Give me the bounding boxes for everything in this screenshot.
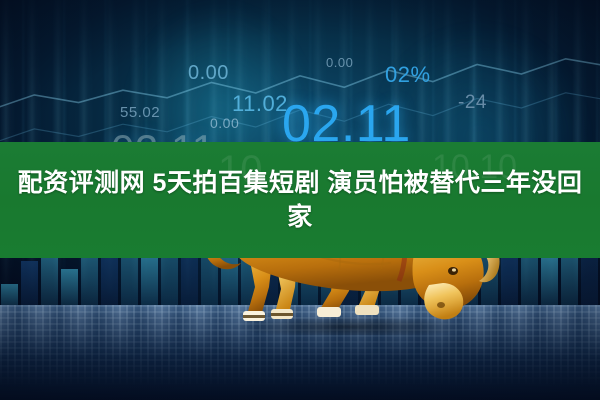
headline-text: 配资评测网 5天拍百集短剧 演员怕被替代三年没回家 [14, 166, 586, 234]
page-title: 配资评测网 5天拍百集短剧 演员怕被替代三年没回家 [0, 142, 600, 258]
thumbnail-canvas: 0.0055.0211.020.000.0002%-2402.1102.110.… [0, 0, 600, 400]
